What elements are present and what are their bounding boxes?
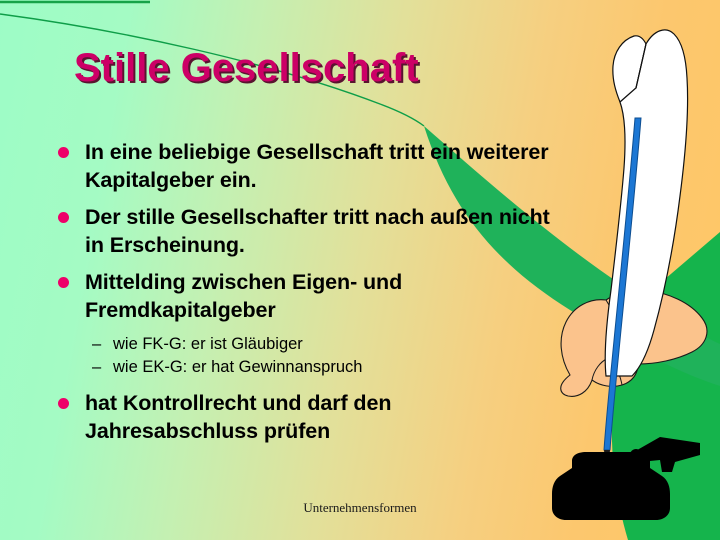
bullet-dot-icon: [58, 212, 69, 223]
pen-shaft: [604, 118, 641, 472]
pen-rest: [630, 437, 700, 472]
presentation-slide: Stille Gesellschaft In eine beliebige Ge…: [0, 0, 720, 540]
sub-bullet-text: wie EK-G: er hat Gewinnanspruch: [113, 358, 362, 376]
slide-footer: Unternehmensformen: [0, 500, 720, 516]
bullet-text: Der stille Gesellschafter tritt nach auß…: [85, 205, 550, 257]
hand-holding-pen: [561, 289, 707, 396]
bullet-dot-icon: [58, 398, 69, 409]
bullet-text: Mittelding zwischen Eigen- und Fremdkapi…: [85, 270, 402, 322]
footer-text: Unternehmensformen: [303, 500, 416, 516]
sub-bullet-text: wie FK-G: er ist Gläubiger: [113, 335, 303, 353]
slide-body-list: In eine beliebige Gesellschaft tritt ein…: [52, 138, 552, 454]
bullet-item-1: In eine beliebige Gesellschaft tritt ein…: [52, 138, 552, 194]
bullet-item-4: hat Kontrollrecht und darf den Jahresabs…: [52, 389, 552, 445]
bullet-text: In eine beliebige Gesellschaft tritt ein…: [85, 140, 548, 192]
bullet-item-3: Mittelding zwischen Eigen- und Fremdkapi…: [52, 268, 552, 324]
bullet-dot-icon: [58, 147, 69, 158]
bullet-dot-icon: [58, 277, 69, 288]
bullet-item-2: Der stille Gesellschafter tritt nach auß…: [52, 203, 552, 259]
sub-bullet-item-1: – wie FK-G: er ist Gläubiger: [52, 333, 552, 356]
sub-bullet-group: – wie FK-G: er ist Gläubiger – wie EK-G:…: [52, 333, 552, 379]
slide-title: Stille Gesellschaft: [74, 46, 419, 91]
bullet-text: hat Kontrollrecht und darf den Jahresabs…: [85, 391, 391, 443]
quill-feather: [605, 30, 687, 376]
dash-marker-icon: –: [92, 356, 101, 379]
sub-bullet-item-2: – wie EK-G: er hat Gewinnanspruch: [52, 356, 552, 379]
green-block-shape: [612, 232, 720, 540]
dash-marker-icon: –: [92, 333, 101, 356]
